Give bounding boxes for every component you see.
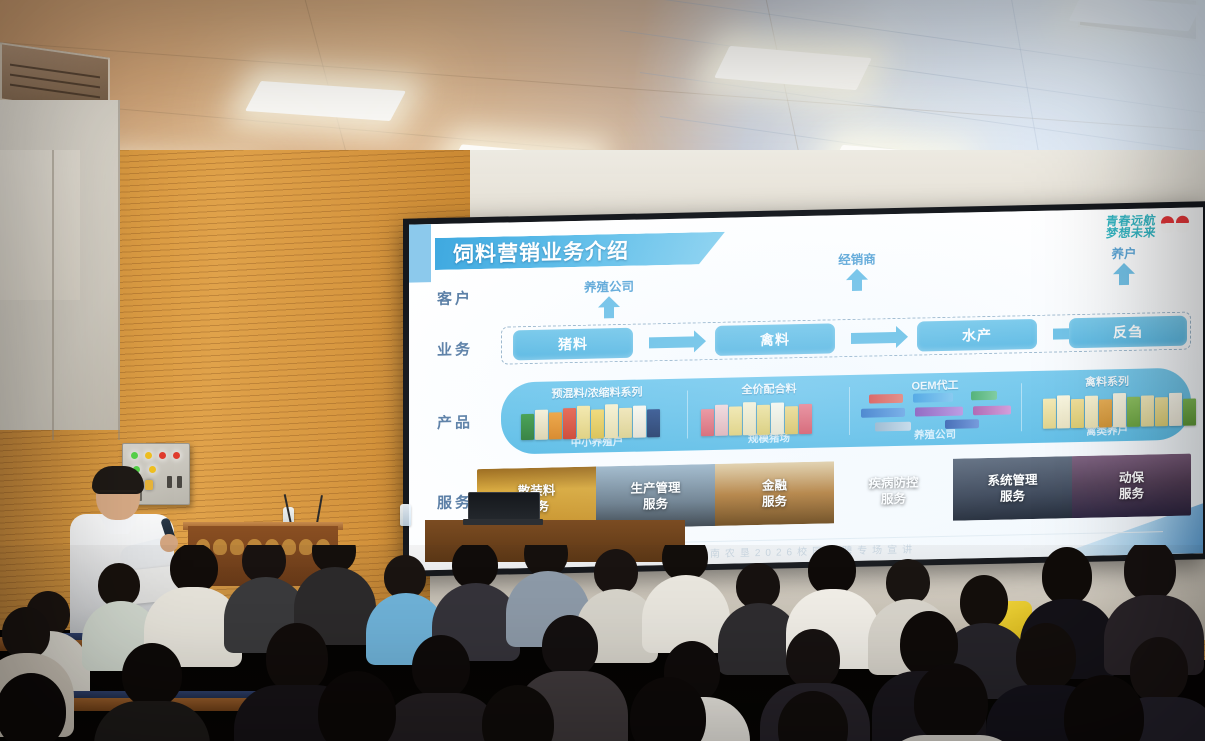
flow-arrow-icon — [851, 332, 897, 344]
indicator-led — [145, 452, 152, 459]
slide-logo: 青春远航 梦想未来 — [1106, 214, 1189, 240]
service-card-disease-control[interactable]: 疾病防控 服务 — [834, 459, 953, 524]
slide-title-banner: 饲料营销业务介绍 — [435, 232, 725, 270]
mascot-pair-icon — [1161, 216, 1189, 237]
service-card-system-management[interactable]: 系统管理 服务 — [953, 456, 1072, 521]
customer-label-distributor: 经销商 — [838, 248, 876, 268]
row-label-customer: 客户 — [437, 287, 495, 309]
lecture-hall-photo: 饲料营销业务介绍 青春远航 梦想未来 客户 业务 产品 服务 — [0, 0, 1205, 741]
glasses-icon — [100, 490, 137, 498]
slide-title-text: 饲料营销业务介绍 — [453, 235, 629, 269]
product-group-header-poultry: 禽料系列 — [1085, 373, 1129, 390]
customer-label-farmer: 养户 — [1111, 243, 1136, 263]
wall-seam — [52, 150, 54, 440]
flow-arrow-icon — [649, 336, 695, 348]
business-box-pig-feed[interactable]: 猪料 — [513, 328, 633, 361]
service-card-finance[interactable]: 金融 服务 — [715, 461, 834, 526]
service-card-animal-health[interactable]: 动保 服务 — [1072, 454, 1191, 519]
product-group-header-oem: OEM代工 — [911, 377, 958, 394]
row-label-business: 业务 — [437, 338, 495, 360]
indicator-led — [159, 452, 166, 459]
product-bags-complete — [701, 398, 812, 436]
water-bottle — [400, 504, 411, 526]
service-card-production-management[interactable]: 生产管理 服务 — [596, 464, 715, 529]
customer-label-farm-company: 养殖公司 — [584, 276, 634, 296]
logo-wordmark: 青春远航 梦想未来 — [1106, 214, 1156, 239]
row-label-product: 产品 — [437, 411, 495, 433]
product-bags-premix — [521, 401, 660, 440]
laptop-base — [463, 519, 543, 525]
slide-corner-accent — [409, 224, 431, 282]
product-panel: 预混料/浓缩料系列 全价配合料 OEM代工 禽料系列 中小养殖户 规模猪场 养殖… — [501, 368, 1191, 455]
product-group-footer-oem: 养殖公司 — [914, 427, 956, 443]
product-bags-poultry — [1043, 389, 1196, 428]
indicator-led — [131, 452, 138, 459]
product-group-header-premix: 预混料/浓缩料系列 — [551, 384, 642, 402]
business-box-poultry-feed[interactable]: 禽料 — [715, 323, 835, 356]
wall-seam — [118, 100, 120, 440]
ceiling-light — [245, 81, 406, 121]
logo-line-2: 梦想未来 — [1105, 226, 1156, 239]
product-group-header-complete: 全价配合料 — [742, 380, 797, 397]
audience — [0, 545, 1205, 741]
laptop-icon — [468, 492, 540, 520]
side-wall-panel-upper — [0, 150, 80, 300]
business-box-aquatic[interactable]: 水产 — [917, 319, 1037, 352]
business-box-ruminant[interactable]: 反刍 — [1069, 316, 1187, 349]
indicator-led — [173, 452, 180, 459]
